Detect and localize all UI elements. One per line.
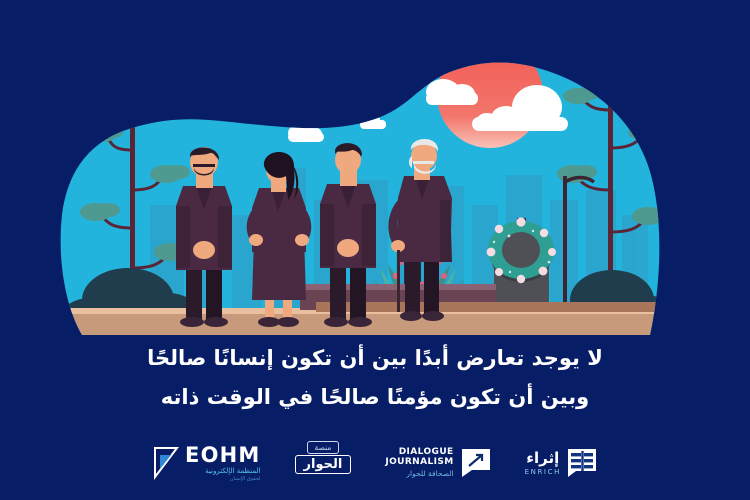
partner-logo-bar: EOHM المنظمة الإلكترونية لحقوق الإنسان م…	[0, 434, 750, 492]
logo-hiwar-top: منصة	[307, 441, 340, 454]
logo-eohm-tagline: لحقوق الإنسان	[185, 477, 260, 482]
logo-hiwar-main: الحوار	[295, 455, 352, 474]
logo-eohm-name: EOHM	[185, 445, 260, 466]
quote-text: لا يوجد تعارض أبدًا بين أن تكون إنسانًا …	[0, 342, 750, 413]
book-speech-bubble-icon	[567, 448, 597, 478]
social-media-card: لا يوجد تعارض أبدًا بين أن تكون إنسانًا …	[0, 0, 750, 500]
logo-dj-line2: JOURNALISM	[385, 458, 453, 468]
logo-hiwar-platform[interactable]: منصة الحوار	[295, 441, 352, 485]
logo-dialogue-journalism[interactable]: DIALOGUE JOURNALISM الصحافة للحوار	[385, 441, 490, 485]
quote-line-1: لا يوجد تعارض أبدًا بين أن تكون إنسانًا …	[40, 342, 710, 375]
logo-enrich-arabic: إثراء	[526, 451, 559, 466]
logo-eohm-arabic: المنظمة الإلكترونية	[185, 468, 260, 475]
triangle-play-icon	[153, 446, 179, 480]
logo-dj-arabic: الصحافة للحوار	[406, 470, 453, 478]
logo-enrich-latin: ENRICH	[525, 469, 561, 476]
quote-line-2: وبين أن تكون مؤمنًا صالحًا في الوقت ذاته	[40, 381, 710, 414]
arrow-in-square-icon	[461, 448, 491, 478]
logo-eohm[interactable]: EOHM المنظمة الإلكترونية لحقوق الإنسان	[153, 441, 260, 485]
logo-enrich[interactable]: إثراء ENRICH	[525, 441, 597, 485]
funeral-illustration	[0, 0, 750, 335]
